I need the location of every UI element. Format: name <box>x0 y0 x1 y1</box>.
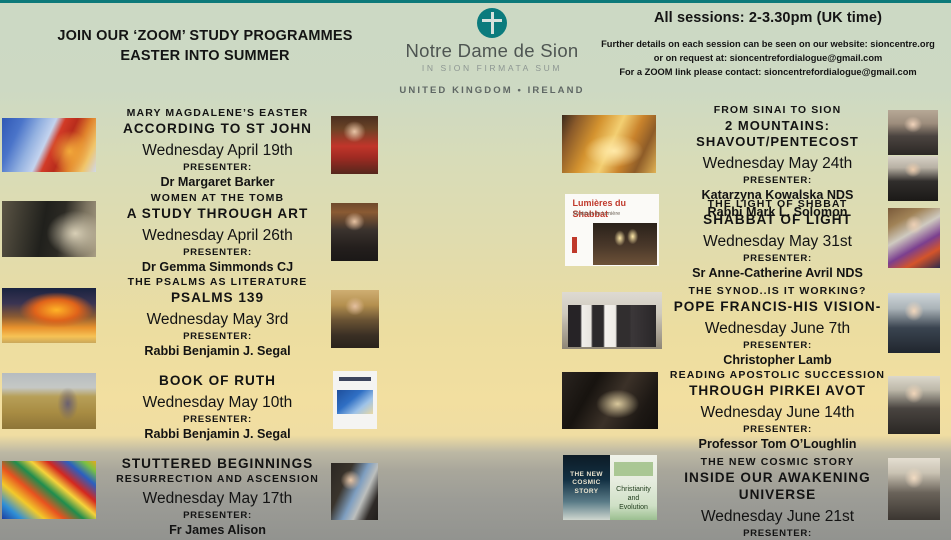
portrait-tom-oloughlin <box>888 376 940 434</box>
presenter-label: PRESENTER: <box>655 340 900 351</box>
session-presenter: Sr Anne-Catherine Avril NDS <box>655 265 900 281</box>
headline-line-1: JOIN OUR ‘ZOOM’ STUDY PROGRAMMES <box>20 26 390 46</box>
session-card-4: Book of Ruth Wednesday May 10th PRESENTE… <box>95 372 340 442</box>
session-card-9: Reading Apostolic Succession Through Pir… <box>655 369 900 452</box>
presenter-label: PRESENTER: <box>95 247 340 258</box>
session-card-2: Women At The Tomb A study through art We… <box>95 192 340 275</box>
presenter-label: PRESENTER: <box>95 414 340 425</box>
portrait-benjamin-segal <box>331 290 379 348</box>
portrait-james-alison <box>331 463 378 520</box>
portrait-mark-solomon <box>888 156 938 201</box>
session-card-5: Stuttered beginnings Resurrection and As… <box>95 455 340 538</box>
artwork-golden-abstract-painting <box>562 115 656 173</box>
session-presenter: Christopher Lamb <box>655 352 900 368</box>
portrait-john-haught <box>888 458 940 520</box>
book-covers-cosmic-story-and-christianity-evolution: THE NEW COSMIC STORY Christianity and Ev… <box>563 455 657 520</box>
presenter-label: PRESENTER: <box>95 162 340 173</box>
session-date: Wednesday May 10th <box>95 393 340 413</box>
session-title: Inside our Awakening Universe <box>655 470 900 504</box>
session-title: 2 Mountains: Shavout/Pentecost <box>655 118 900 151</box>
session-date: Wednesday April 26th <box>95 226 340 246</box>
logo-motto: IN SION FIRMATA SUM <box>392 63 592 73</box>
presenter-label: PRESENTER: <box>655 424 900 435</box>
details-line-1: Further details on each session can be s… <box>592 38 944 52</box>
shabbat-candles-photo <box>593 223 657 265</box>
session-card-1: Mary Magdalene’s Easter According to St … <box>95 107 340 190</box>
session-presenter: Professor Tom O’Loughlin <box>655 436 900 452</box>
session-subtitle: The Synod..is it working? <box>655 285 900 298</box>
book-cover-lumieres-du-shabbat: Lumières du Shabbat Shabbat de lumière <box>565 194 659 266</box>
session-date: Wednesday June 21st <box>655 507 900 527</box>
book-cover-new-cosmic-story: THE NEW COSMIC STORY <box>563 455 610 520</box>
portrait-christopher-lamb <box>888 293 940 353</box>
portrait-anne-catherine-avril <box>888 208 940 268</box>
artwork-study-interior-painting <box>562 372 658 429</box>
session-subtitle: Resurrection and Ascension <box>95 473 340 486</box>
session-title: Psalms 139 <box>95 290 340 307</box>
session-presenter: Dr Margaret Barker <box>95 174 340 190</box>
contact-details: Further details on each session can be s… <box>592 38 944 80</box>
session-title: Shabbat of Light <box>655 212 900 229</box>
artwork-ruth-in-field-painting <box>2 373 96 429</box>
artwork-stained-glass-mosaic-painting <box>2 461 96 519</box>
session-presenter: Fr James Alison <box>95 522 340 538</box>
presenter-label: PRESENTER: <box>655 253 900 264</box>
book-spine <box>572 237 578 253</box>
headline-line-2: EASTER INTO SUMMER <box>20 46 390 66</box>
book-title-evolution: Christianity and Evolution <box>613 485 654 512</box>
sessions-time: All sessions: 2-3.30pm (UK time) <box>592 10 944 26</box>
logo-region: UNITED KINGDOM • IRELAND <box>392 85 592 96</box>
details-line-2: or on request at: sioncentrefordialogue@… <box>592 52 944 66</box>
cross-in-circle-icon <box>477 8 507 38</box>
book-title-cosmic: THE NEW COSMIC STORY <box>567 471 606 497</box>
presenter-label: PRESENTER: <box>655 175 900 186</box>
session-subtitle: Women At The Tomb <box>95 192 340 205</box>
portrait-katarzyna-kowalska <box>888 110 938 155</box>
session-title: A study through art <box>95 206 340 223</box>
organisation-logo: Notre Dame de Sion IN SION FIRMATA SUM U… <box>392 8 592 96</box>
portrait-gemma-simmonds <box>331 203 378 261</box>
artwork-pope-francis-group-photo <box>562 292 662 349</box>
session-title: According to St John <box>95 121 340 138</box>
session-date: Wednesday May 17th <box>95 489 340 509</box>
session-subtitle: Mary Magdalene’s Easter <box>95 107 340 120</box>
session-presenter: Dr Gemma Simmonds CJ <box>95 259 340 275</box>
session-subtitle: Reading Apostolic Succession <box>655 369 900 382</box>
session-presenter: Rabbi Benjamin J. Segal <box>95 426 340 442</box>
book-cover-a-new-psalm <box>333 371 377 429</box>
logo-name: Notre Dame de Sion <box>392 41 592 61</box>
session-subtitle: The Light of Shbbat <box>655 198 900 211</box>
presenter-label: PRESENTER: <box>95 510 340 521</box>
artwork-women-at-the-tomb-painting <box>2 201 96 257</box>
session-card-3: The Psalms as Literature Psalms 139 Wedn… <box>95 276 340 359</box>
session-presenter: Rabbi Benjamin J. Segal <box>95 343 340 359</box>
session-date: Wednesday April 19th <box>95 141 340 161</box>
headline: JOIN OUR ‘ZOOM’ STUDY PROGRAMMES EASTER … <box>20 26 390 66</box>
book-subtitle-shabbat: Shabbat de lumière <box>573 211 654 217</box>
session-subtitle: From Sinai to Sion <box>655 104 900 117</box>
session-title: Through Pirkei Avot <box>655 383 900 400</box>
artwork-emmaus-abstract-painting <box>2 118 96 172</box>
session-subtitle: The Psalms as Literature <box>95 276 340 289</box>
session-date: Wednesday June 7th <box>655 319 900 339</box>
top-rule <box>0 0 951 3</box>
session-date: Wednesday June 14th <box>655 403 900 423</box>
presenter-label: PRESENTER: <box>655 528 900 539</box>
session-date: Wednesday May 24th <box>655 154 900 174</box>
session-card-10: The New Cosmic Story Inside our Awakenin… <box>655 456 900 540</box>
poster-canvas: JOIN OUR ‘ZOOM’ STUDY PROGRAMMES EASTER … <box>0 0 951 540</box>
book-cover-christianity-and-evolution: Christianity and Evolution <box>610 455 657 520</box>
session-date: Wednesday May 31st <box>655 232 900 252</box>
session-title: Book of Ruth <box>95 373 340 390</box>
session-date: Wednesday May 3rd <box>95 310 340 330</box>
session-title: Pope Francis-His Vision- <box>655 299 900 316</box>
session-subtitle: The New Cosmic Story <box>655 456 900 469</box>
artwork-fiery-sunset-painting <box>2 288 96 343</box>
header-info: All sessions: 2-3.30pm (UK time) Further… <box>592 10 944 80</box>
details-line-3: For a ZOOM link please contact: sioncent… <box>592 66 944 80</box>
presenter-label: PRESENTER: <box>95 331 340 342</box>
session-title: Stuttered beginnings <box>95 456 340 473</box>
session-card-7: The Light of Shbbat Shabbat of Light Wed… <box>655 198 900 281</box>
portrait-margaret-barker <box>331 116 378 174</box>
session-card-8: The Synod..is it working? Pope Francis-H… <box>655 285 900 368</box>
